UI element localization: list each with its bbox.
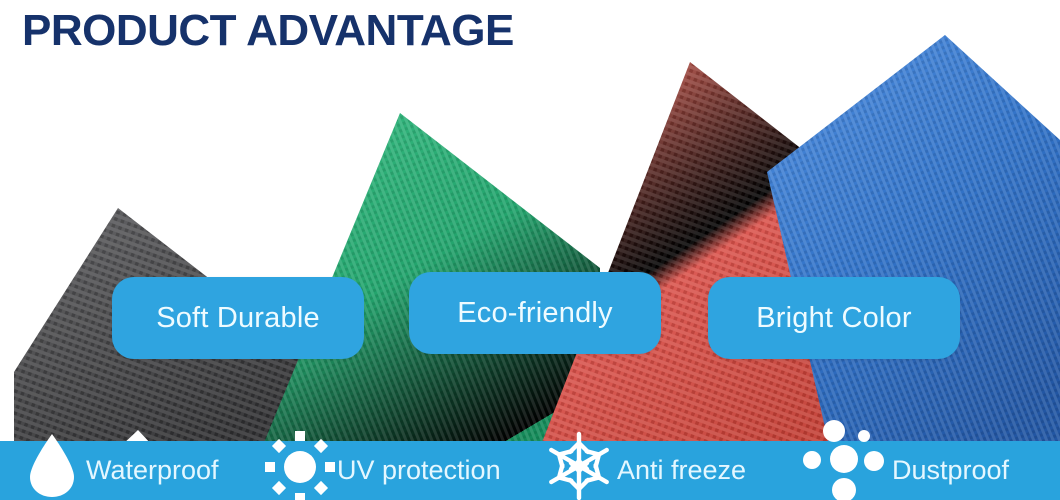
feature-pill-bright-color[interactable]: Bright Color bbox=[708, 277, 960, 359]
feature-label: Waterproof bbox=[86, 457, 219, 484]
product-advantage-banner: PRODUCT ADVANTAGE Soft Durable Eco-frien… bbox=[0, 0, 1060, 500]
feature-label: UV protection bbox=[337, 457, 501, 484]
feature-waterproof[interactable]: Waterproof bbox=[24, 441, 219, 500]
feature-pill-label: Soft Durable bbox=[156, 302, 320, 335]
feature-uv-protection[interactable]: UV protection bbox=[265, 441, 501, 500]
feature-label: Anti freeze bbox=[617, 457, 746, 484]
feature-anti-freeze[interactable]: Anti freeze bbox=[545, 441, 746, 500]
blue-tarp-sheet bbox=[0, 0, 1060, 500]
feature-pill-eco-friendly[interactable]: Eco-friendly bbox=[409, 272, 661, 354]
sun-icon bbox=[265, 427, 335, 500]
dust-particles-icon bbox=[800, 423, 892, 500]
tarpaulin-sheets-group bbox=[0, 0, 1060, 500]
page-title: PRODUCT ADVANTAGE bbox=[22, 8, 514, 54]
feature-pill-soft-durable[interactable]: Soft Durable bbox=[112, 277, 364, 359]
feature-label: Dustproof bbox=[892, 457, 1009, 484]
feature-pill-label: Eco-friendly bbox=[457, 297, 613, 330]
water-drop-icon bbox=[24, 430, 80, 500]
feature-pill-label: Bright Color bbox=[756, 302, 912, 335]
snowflake-icon bbox=[545, 431, 613, 500]
feature-dustproof[interactable]: Dustproof bbox=[800, 441, 1009, 500]
